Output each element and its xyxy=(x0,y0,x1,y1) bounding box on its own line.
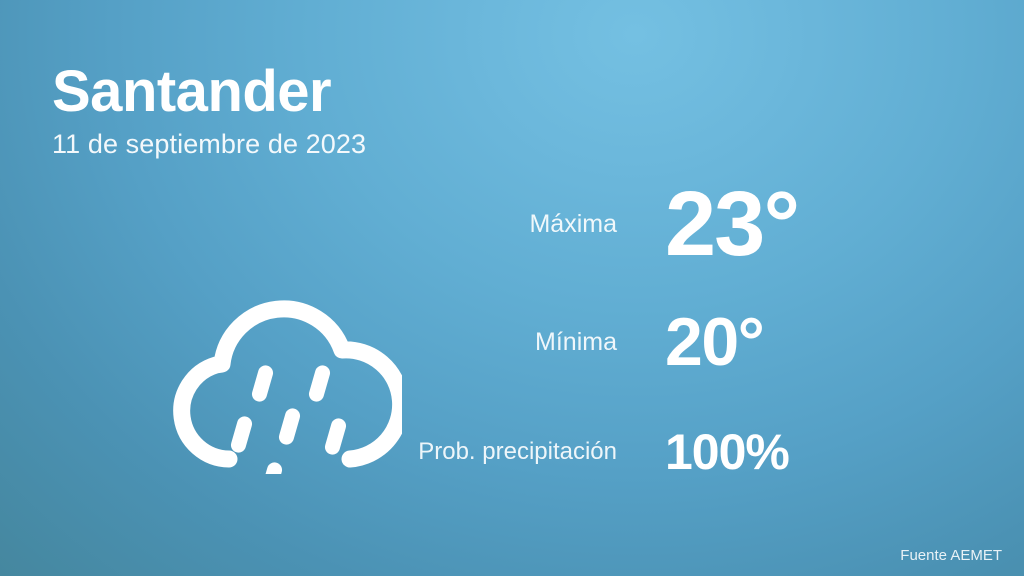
maxima-value: 23° xyxy=(665,178,960,270)
source-attribution: Fuente AEMET xyxy=(900,547,1002,564)
reading-row-precipitacion: Prob. precipitación 100% xyxy=(400,404,960,500)
readings-list: Máxima 23° Mínima 20° Prob. precipitació… xyxy=(400,168,960,500)
reading-row-minima: Mínima 20° xyxy=(400,280,960,404)
minima-label: Mínima xyxy=(400,327,665,357)
minima-value: 20° xyxy=(665,308,960,376)
precipitacion-value: 100% xyxy=(665,427,960,477)
reading-row-maxima: Máxima 23° xyxy=(400,168,960,280)
page-title: Santander xyxy=(52,62,612,123)
header: Santander 11 de septiembre de 2023 xyxy=(52,62,612,160)
forecast-date: 11 de septiembre de 2023 xyxy=(52,129,612,160)
precipitacion-label: Prob. precipitación xyxy=(400,438,665,467)
maxima-label: Máxima xyxy=(400,209,665,239)
weather-card: Santander 11 de septiembre de 2023 Máxim… xyxy=(0,0,1024,576)
rain-cloud-icon xyxy=(172,248,402,474)
